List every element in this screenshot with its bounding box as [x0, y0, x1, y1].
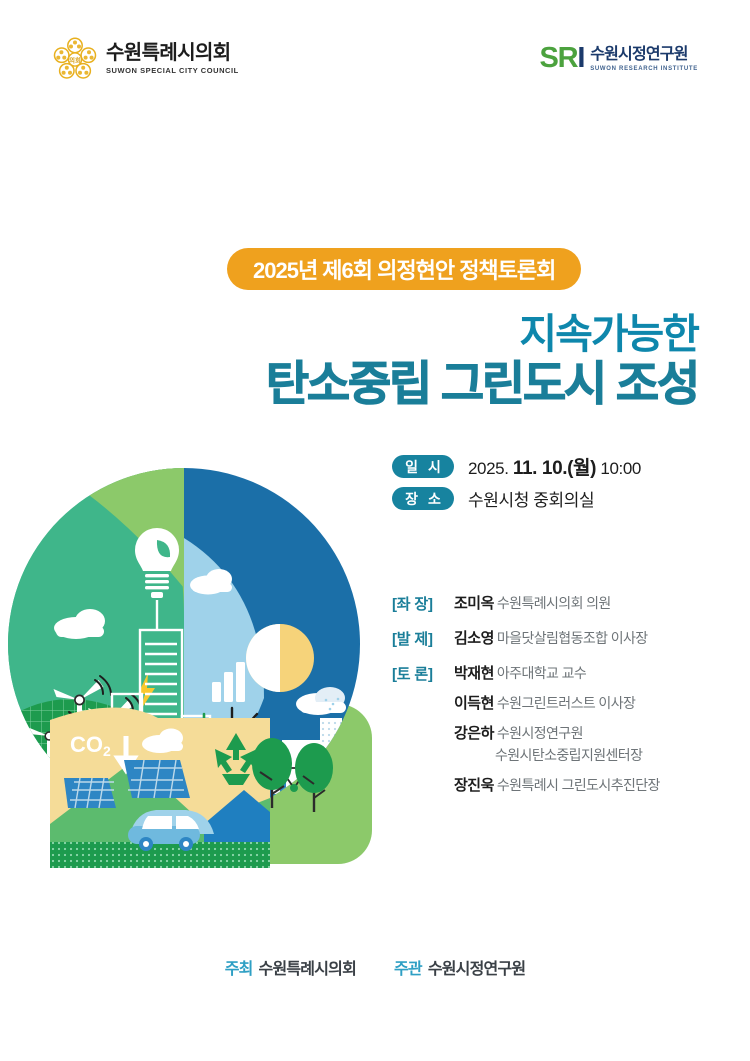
svg-text:의회: 의회 — [69, 55, 81, 64]
speaker-org: 수원특례시 그린도시추진단장 — [497, 777, 660, 793]
program-people-presenter: 김소영마을닷살림협동조합 이사장 — [454, 627, 722, 648]
speaker-row: 조미옥수원특례시의회 의원 — [454, 592, 722, 613]
headline-line-2: 탄소중립 그린도시 조성 — [266, 358, 698, 411]
program-speakers: [좌 장] 조미옥수원특례시의회 의원 [발 제] 김소영마을닷살림협동조합 이… — [392, 592, 722, 808]
venue-badge: 장 소 — [392, 487, 454, 510]
speaker-org-line2: 수원시탄소중립지원센터장 — [495, 745, 722, 765]
footer-org-host: 수원특례시의회 — [259, 961, 356, 978]
sun-icon — [246, 624, 314, 692]
event-info: 일 시 2025. 11. 10.(월) 10:00 장 소 수원시청 중회의실 — [392, 453, 641, 517]
program-label-panel: [토 론] — [392, 662, 454, 684]
program-people-chair: 조미옥수원특례시의회 의원 — [454, 592, 722, 613]
headline-line-1: 지속가능한 — [266, 312, 698, 356]
event-datetime-row: 일 시 2025. 11. 10.(월) 10:00 — [392, 453, 641, 480]
speaker-row: 이득현수원그린트러스트 이사장 — [454, 692, 722, 713]
carbon-neutral-city-illustration: CO2 — [8, 468, 376, 888]
speaker-org: 수원시정연구원 — [497, 725, 583, 741]
datetime-time: 10:00 — [596, 459, 641, 478]
poster-header: 의회 수원특례시의회 SUWON SPECIAL CITY COUNCIL SR… — [0, 0, 750, 110]
venue-text: 수원시청 중회의실 — [468, 491, 594, 510]
footer-role-organizer: 주관 — [394, 961, 422, 978]
solar-panel-icon — [64, 778, 116, 808]
speaker-name: 조미옥 — [454, 595, 494, 612]
footer-host: 주최수원특례시의회 — [225, 955, 356, 979]
speaker-name: 이득현 — [454, 695, 494, 712]
event-venue-value: 수원시청 중회의실 — [468, 486, 594, 511]
council-logo-text: 수원특례시의회 SUWON SPECIAL CITY COUNCIL — [106, 43, 239, 75]
speaker-name: 강은하 — [454, 725, 494, 742]
event-series-label: 2025년 제6회 의정현안 정책토론회 — [253, 253, 555, 285]
speaker-org: 아주대학교 교수 — [497, 665, 586, 681]
program-group-panel: [토 론] 박재현아주대학교 교수 이득현수원그린트러스트 이사장 강은하수원시… — [392, 662, 722, 795]
sri-name-en: SUWON RESEARCH INSTITUTE — [590, 66, 698, 72]
program-label-presenter: [발 제] — [392, 627, 454, 649]
program-group-chair: [좌 장] 조미옥수원특례시의회 의원 — [392, 592, 722, 614]
speaker-row: 장진욱수원특례시 그린도시추진단장 — [454, 774, 722, 795]
sri-wordmark: SRI — [539, 44, 584, 73]
event-datetime-value: 2025. 11. 10.(월) 10:00 — [468, 453, 641, 480]
sri-name-ko: 수원시정연구원 — [590, 47, 698, 64]
datetime-year: 2025. — [468, 459, 513, 478]
datetime-badge: 일 시 — [392, 455, 454, 478]
council-flower-emblem: 의회 — [52, 36, 98, 82]
speaker-name: 김소영 — [454, 630, 494, 647]
speaker-org: 수원그린트러스트 이사장 — [497, 695, 635, 711]
footer-organizer: 주관수원시정연구원 — [394, 955, 525, 979]
dot-field — [50, 842, 270, 868]
sri-logo: SRI 수원시정연구원 SUWON RESEARCH INSTITUTE — [539, 44, 698, 73]
event-venue-row: 장 소 수원시청 중회의실 — [392, 486, 641, 511]
footer-org-organizer: 수원시정연구원 — [428, 961, 525, 978]
speaker-row: 김소영마을닷살림협동조합 이사장 — [454, 627, 722, 648]
speaker-row: 강은하수원시정연구원 수원시탄소중립지원센터장 — [454, 722, 722, 765]
program-people-panel: 박재현아주대학교 교수 이득현수원그린트러스트 이사장 강은하수원시정연구원 수… — [454, 662, 722, 795]
event-series-banner: 2025년 제6회 의정현안 정책토론회 — [227, 248, 581, 290]
footer-role-host: 주최 — [225, 961, 253, 978]
datetime-day: 11. 10.(월) — [513, 458, 596, 479]
speaker-org: 마을닷살림협동조합 이사장 — [497, 630, 648, 646]
council-name-en: SUWON SPECIAL CITY COUNCIL — [106, 66, 239, 75]
speaker-row: 박재현아주대학교 교수 — [454, 662, 722, 683]
solar-panel-icon — [124, 760, 190, 798]
poster-footer: 주최수원특례시의회 주관수원시정연구원 — [0, 955, 750, 979]
speaker-name: 장진욱 — [454, 777, 494, 794]
speaker-name: 박재현 — [454, 665, 494, 682]
suwon-council-logo: 의회 수원특례시의회 SUWON SPECIAL CITY COUNCIL — [52, 36, 239, 82]
sri-logo-text: 수원시정연구원 SUWON RESEARCH INSTITUTE — [590, 47, 698, 73]
sri-mark-sr: SR — [539, 42, 577, 74]
program-group-presenter: [발 제] 김소영마을닷살림협동조합 이사장 — [392, 627, 722, 649]
poster-headline: 지속가능한 탄소중립 그린도시 조성 — [266, 312, 698, 411]
sri-mark-i: I — [577, 42, 584, 74]
program-label-chair: [좌 장] — [392, 592, 454, 614]
speaker-org: 수원특례시의회 의원 — [497, 595, 611, 611]
council-name-ko: 수원특례시의회 — [106, 43, 239, 64]
